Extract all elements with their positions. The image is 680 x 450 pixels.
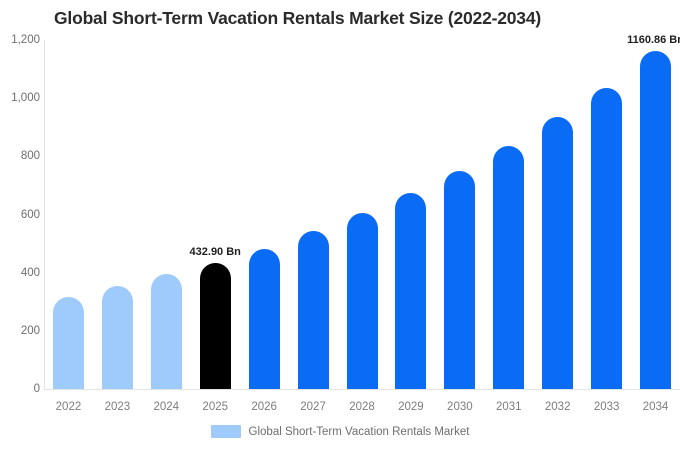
- x-axis-tick-labels: 2022202320242025202620272028202920302031…: [44, 0, 680, 450]
- chart-legend: Global Short-Term Vacation Rentals Marke…: [0, 425, 680, 438]
- x-axis-tick-2031: 2031: [496, 401, 522, 413]
- x-axis-tick-2030: 2030: [447, 401, 473, 413]
- y-axis-tick: 200: [0, 325, 40, 337]
- y-axis-tick: 600: [0, 209, 40, 221]
- x-axis-tick-2034: 2034: [643, 401, 669, 413]
- y-axis-tick: 1,000: [0, 92, 40, 104]
- legend-label: Global Short-Term Vacation Rentals Marke…: [249, 426, 470, 438]
- x-axis-tick-2028: 2028: [349, 401, 375, 413]
- y-axis-tick: 0: [0, 383, 40, 395]
- x-axis-tick-2029: 2029: [398, 401, 424, 413]
- x-axis-tick-2025: 2025: [202, 401, 228, 413]
- y-axis-tick-labels: 02004006008001,0001,200: [0, 0, 40, 450]
- y-axis-tick: 400: [0, 267, 40, 279]
- y-axis-tick: 1,200: [0, 34, 40, 46]
- x-axis-tick-2023: 2023: [105, 401, 131, 413]
- legend-item[interactable]: Global Short-Term Vacation Rentals Marke…: [211, 425, 470, 438]
- x-axis-tick-2032: 2032: [545, 401, 571, 413]
- x-axis-tick-2027: 2027: [300, 401, 326, 413]
- x-axis-tick-2022: 2022: [56, 401, 82, 413]
- legend-swatch-icon: [211, 425, 241, 438]
- x-axis-tick-2033: 2033: [594, 401, 620, 413]
- y-axis-tick: 800: [0, 150, 40, 162]
- x-axis-tick-2024: 2024: [154, 401, 180, 413]
- x-axis-tick-2026: 2026: [251, 401, 277, 413]
- bar-chart: Global Short-Term Vacation Rentals Marke…: [0, 0, 680, 450]
